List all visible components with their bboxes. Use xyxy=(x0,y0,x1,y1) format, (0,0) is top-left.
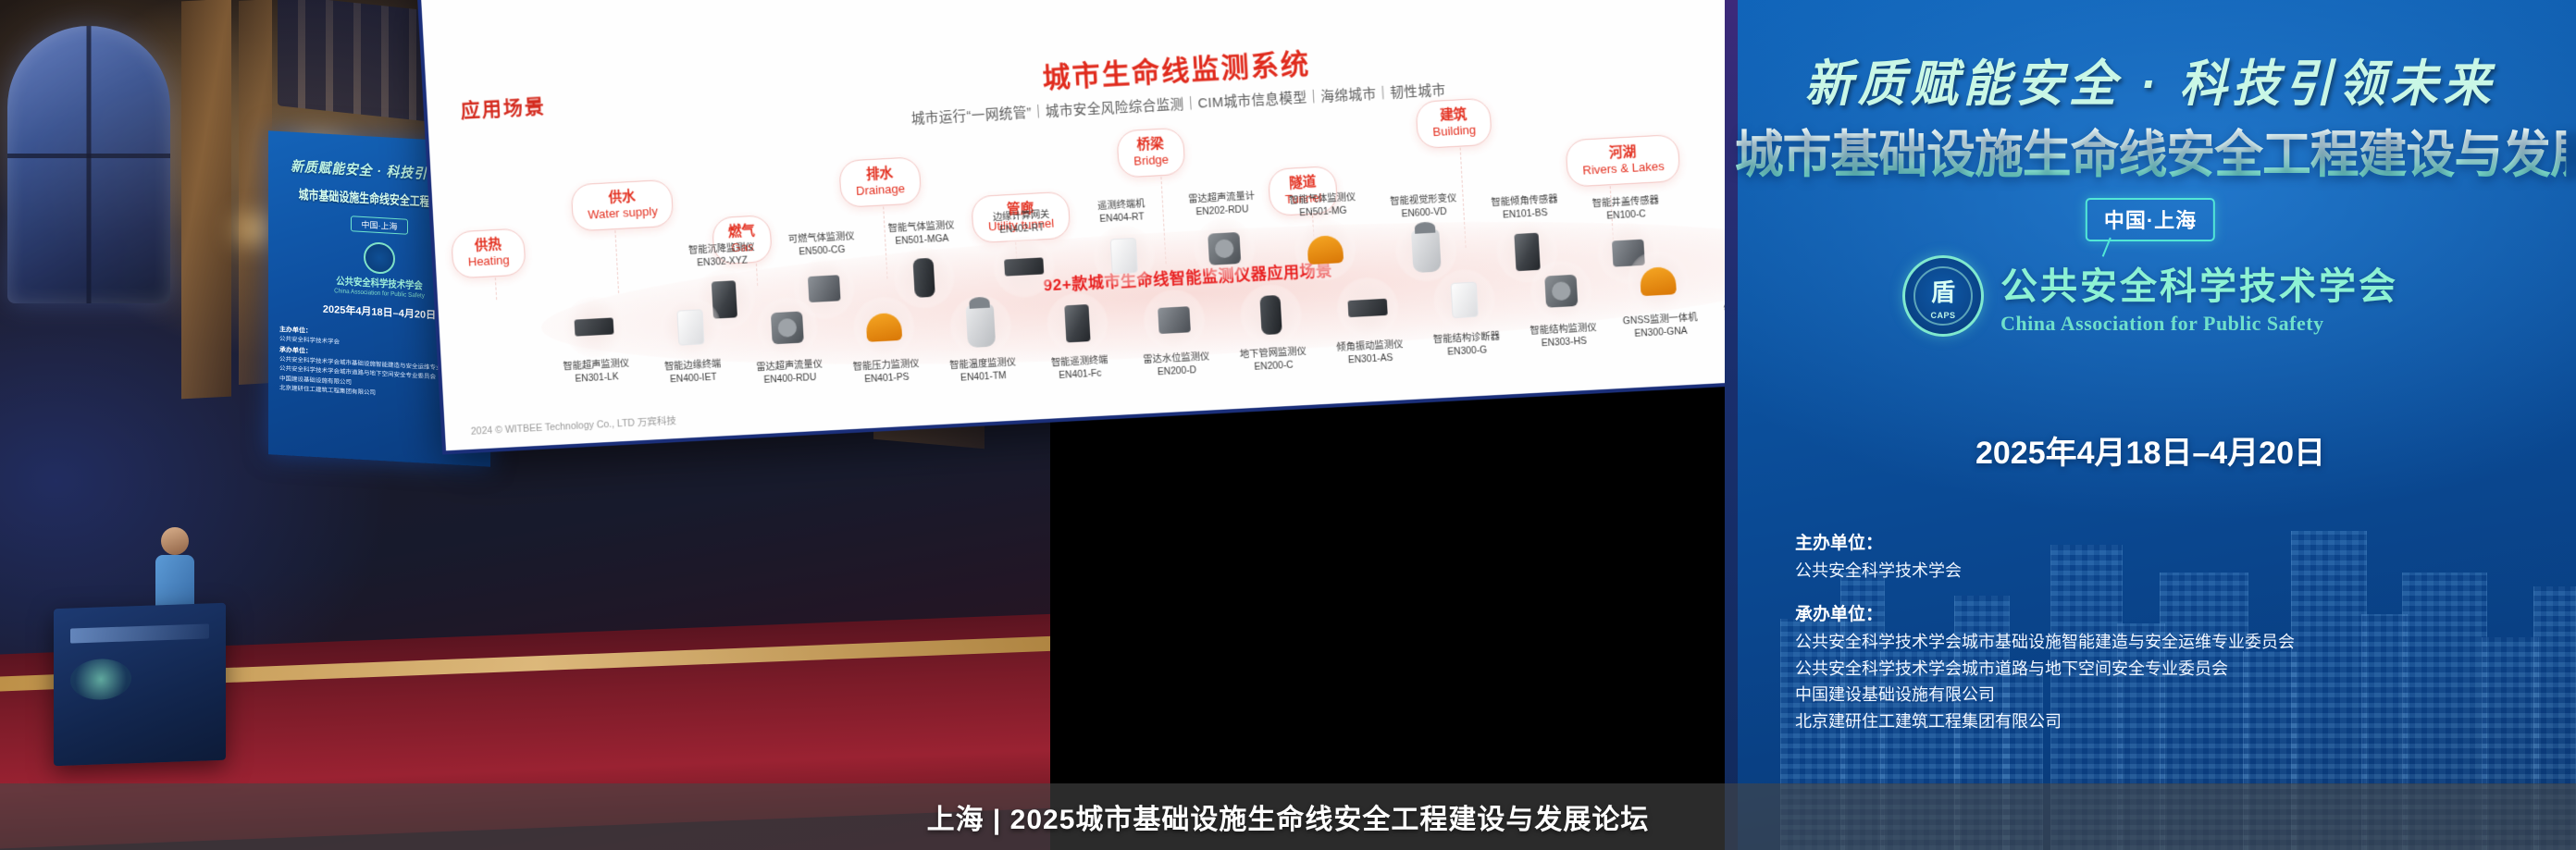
device-silhouette-icon xyxy=(1064,304,1090,342)
device-image xyxy=(1626,249,1690,314)
device-image xyxy=(1045,291,1109,356)
device-image xyxy=(851,295,916,360)
presentation-slide: WITBEE 万宾 应用场景 城市生命线监测系统 城市运行“一网统管”｜城市安全… xyxy=(420,0,1949,450)
banner-forum-title: 城市基础设施生命线安全工程建设与发展论坛 xyxy=(1735,113,2567,187)
scenario-name-en: Heating xyxy=(467,253,510,270)
device-image xyxy=(992,234,1057,299)
device-silhouette-icon xyxy=(865,313,902,342)
scenario-connector-line xyxy=(495,277,497,300)
banner-association-block: 盾 CAPS 公共安全科学技术学会 China Association for … xyxy=(1902,255,2398,337)
event-banner: 新质赋能安全 · 科技引领未来 城市基础设施生命线安全工程建设与发展论坛 中国·… xyxy=(1725,0,2576,850)
device-image xyxy=(562,295,626,359)
device-image xyxy=(1092,223,1157,288)
scenario-connector-line xyxy=(614,230,619,293)
caption-bar: 上海 | 2025城市基础设施生命线安全工程建设与发展论坛 xyxy=(0,783,2576,850)
organizer-label: 承办单位： xyxy=(1795,600,2295,625)
scenario-name-cn: 燃气 xyxy=(727,223,755,241)
organizer-item: 北京建研住工建筑工程集团有限公司 xyxy=(1795,708,2295,734)
stage-light-glow xyxy=(236,217,273,241)
side-banner-emblem xyxy=(364,241,395,275)
association-names: 公共安全科学技术学会 China Association for Public … xyxy=(2000,256,2398,336)
organizer-item: 公共安全科学技术学会城市基础设施智能建造与安全运维专业委员会 xyxy=(1795,629,2295,655)
device-silhouette-icon xyxy=(1110,237,1138,274)
device-image xyxy=(1192,216,1257,281)
caption-text: 上海 | 2025城市基础设施生命线安全工程建设与发展论坛 xyxy=(927,796,1650,837)
scenario-bubble: 桥梁Bridge xyxy=(1116,128,1185,179)
wall-panel xyxy=(181,0,231,399)
banner-organizers: 主办单位： 公共安全科学技术学会 承办单位： 公共安全科学技术学会城市基础设施智… xyxy=(1795,529,2295,734)
device-silhouette-icon xyxy=(1347,299,1387,317)
spacer xyxy=(1795,584,2295,600)
screenshot-root: 新质赋能安全 · 科技引领未来 城市基础设施生命线安全工程建设与发展论坛 中国·… xyxy=(0,0,2576,850)
device-item: 遥测终端机EN404-RT xyxy=(1066,196,1181,290)
device-silhouette-icon xyxy=(1004,257,1044,276)
device-image xyxy=(659,295,724,360)
device-image xyxy=(1529,259,1593,324)
scenario-name-cn: 桥梁 xyxy=(1133,136,1169,154)
device-silhouette-icon xyxy=(1451,282,1479,319)
device-silhouette-icon xyxy=(1158,306,1191,334)
lectern xyxy=(54,603,226,766)
scenario-bubble: 建筑Building xyxy=(1415,98,1492,150)
device-silhouette-icon xyxy=(575,317,614,336)
host-label: 主办单位： xyxy=(1795,529,2295,554)
device-silhouette-icon xyxy=(1544,275,1578,308)
device-image xyxy=(755,296,820,361)
device-silhouette-icon xyxy=(966,304,997,349)
device-image xyxy=(948,294,1013,359)
scenario-bubble: 供水Water supply xyxy=(571,179,675,232)
side-banner-location: 中国·上海 xyxy=(351,216,408,234)
scenario-name-en: Rivers & Lakes xyxy=(1582,159,1665,179)
device-silhouette-icon xyxy=(1307,235,1344,265)
wall-panel xyxy=(239,0,272,385)
device-silhouette-icon xyxy=(771,312,804,345)
scenario-name-en: Building xyxy=(1432,123,1477,141)
scenario-bubble: 河湖Rivers & Lakes xyxy=(1565,134,1680,188)
device-silhouette-icon xyxy=(1640,266,1677,296)
device-image xyxy=(1142,288,1207,352)
emblem-glyph: 盾 xyxy=(1931,280,1955,304)
device-silhouette-icon xyxy=(676,309,704,345)
organizer-item: 公共安全科学技术学会城市道路与地下空间安全专业委员会 xyxy=(1795,656,2295,682)
device-image xyxy=(1293,217,1357,282)
scenario-bubble: 供热Heating xyxy=(451,228,526,279)
scenario-name-en: Drainage xyxy=(856,181,906,199)
device-image xyxy=(1239,282,1304,347)
banner-slogan: 新质赋能安全 · 科技引领未来 xyxy=(1746,43,2555,116)
scenario-name-en: Bridge xyxy=(1133,153,1170,169)
device-item: 边缘计算网关EN402-RT xyxy=(966,207,1081,302)
device-silhouette-icon xyxy=(1411,228,1442,273)
device-item: 智能气体监测仪EN501-MG xyxy=(1268,191,1382,285)
banner-date: 2025年4月18日–4月20日 xyxy=(1725,427,2576,473)
association-name-cn: 公共安全科学技术学会 xyxy=(2000,256,2398,310)
emblem-abbr: CAPS xyxy=(1905,311,1981,320)
host-item: 公共安全科学技术学会 xyxy=(1795,558,2295,584)
slide-footer: 2024 © WITBEE Technology Co., LTD 万宾科技 xyxy=(471,413,677,438)
device-silhouette-icon xyxy=(1207,231,1241,265)
scenario-name-en: Water supply xyxy=(588,204,658,223)
device-silhouette-icon xyxy=(912,257,935,297)
scenario-name-cn: 隧道 xyxy=(1283,174,1321,192)
device-image xyxy=(1432,268,1497,333)
projection-screen: WITBEE 万宾 应用场景 城市生命线监测系统 城市运行“一网统管”｜城市安全… xyxy=(420,0,1915,451)
arched-window xyxy=(7,26,170,303)
device-silhouette-icon xyxy=(1259,295,1282,335)
device-image xyxy=(1335,276,1400,340)
banner-location-chip: 中国·上海 xyxy=(2086,198,2215,241)
device-item: 雷达超声流量计EN202-RDU xyxy=(1167,190,1282,284)
caps-emblem-icon: 盾 CAPS xyxy=(1902,255,1984,337)
association-name-en: China Association for Public Safety xyxy=(2000,312,2398,336)
organizer-item: 中国建设基础设施有限公司 xyxy=(1795,682,2295,708)
scenario-bubble: 排水Drainage xyxy=(838,156,922,208)
